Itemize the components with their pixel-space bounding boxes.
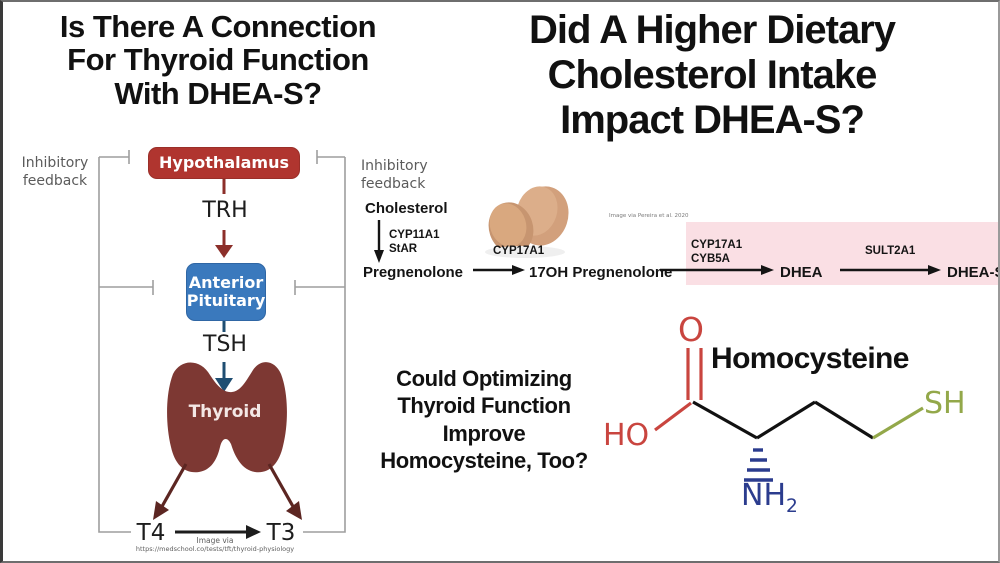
atom-label-hydroxyl: HO: [603, 418, 649, 453]
credit-line-1: Image via: [115, 536, 315, 545]
page-title-right: Did A Higher Dietary Cholesterol Intake …: [427, 8, 997, 142]
node-hypothalamus: Hypothalamus: [148, 147, 300, 179]
pathway-node-dhea-s: DHEA-S: [947, 264, 1000, 281]
atom-label-oxygen: O: [678, 310, 704, 349]
label-inhibitory-feedback-left: Inhibitory feedback: [11, 154, 99, 190]
thyroid-diagram-credit: Image via https://medschool.co/tests/tft…: [115, 536, 315, 554]
credit-line-2: https://medschool.co/tests/tft/thyroid-p…: [115, 545, 315, 553]
pathway-node-pregnenolone: Pregnenolone: [363, 264, 463, 281]
page-title-left: Is There A Connection For Thyroid Functi…: [9, 10, 427, 110]
question-optimize-thyroid: Could Optimizing Thyroid Function Improv…: [355, 365, 613, 474]
pathway-node-dhea: DHEA: [780, 264, 823, 281]
atom-label-amine: NH2: [741, 478, 798, 517]
pathway-credit: Image via Pereira et al. 2020: [609, 213, 689, 219]
pathway-node-cholesterol: Cholesterol: [365, 200, 448, 217]
pathway-enzyme-cyp17a1: CYP17A1: [493, 244, 544, 258]
label-tsh: TSH: [183, 332, 267, 357]
slide-canvas: Is There A Connection For Thyroid Functi…: [0, 0, 1000, 563]
pathway-node-17oh-pregnenolone: 17OH Pregnenolone: [529, 264, 672, 281]
pathway-enzyme-cyp11a1-star: CYP11A1 StAR: [389, 228, 440, 257]
homocysteine-title: Homocysteine: [711, 342, 909, 376]
atom-label-thiol: SH: [924, 386, 966, 421]
atom-label-amine-subscript: 2: [786, 496, 798, 517]
pathway-enzyme-sult2a1: SULT2A1: [865, 244, 915, 258]
node-thyroid-label: Thyroid: [186, 400, 264, 426]
label-trh: TRH: [183, 198, 267, 223]
node-anterior-pituitary: Anterior Pituitary: [186, 263, 266, 321]
atom-label-amine-text: NH: [741, 478, 786, 513]
homocysteine-structure: Homocysteine O HO SH NH2: [583, 310, 1000, 563]
pathway-enzyme-cyp17a1-cyb5a: CYP17A1 CYB5A: [691, 238, 742, 267]
steroidogenesis-pathway: Cholesterol CYP11A1 StAR Pregnenolone CY…: [353, 184, 1000, 294]
